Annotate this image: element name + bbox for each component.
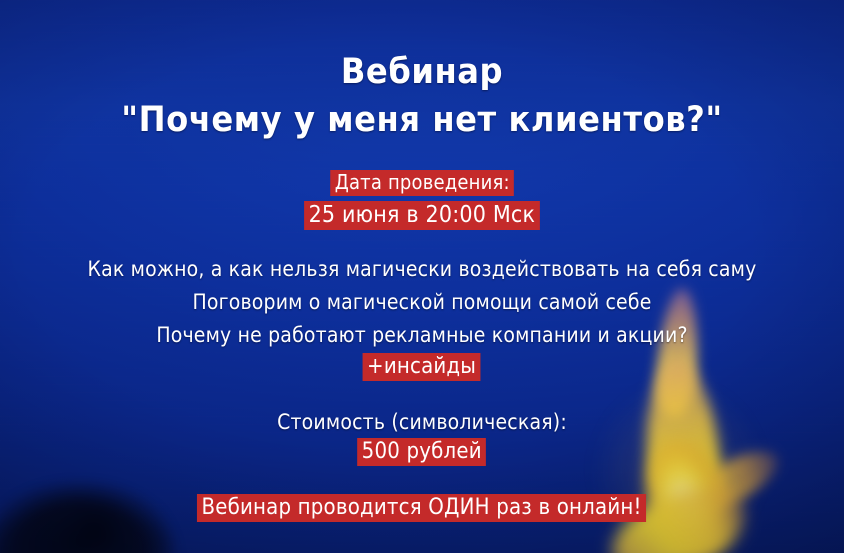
topic-line-2: Поговорим о магической помощи самой себе — [42, 290, 802, 314]
date-value-row: 25 июня в 20:00 Мск — [0, 201, 844, 230]
footer-notice: Вебинар проводится ОДИН раз в онлайн! — [197, 494, 646, 522]
bonus-badge: +инсайды — [363, 353, 481, 381]
price-value-row: 500 рублей — [0, 438, 844, 466]
bonus-row: +инсайды — [0, 353, 844, 381]
price-value: 500 рублей — [357, 438, 486, 466]
price-label: Стоимость (символическая): — [42, 410, 802, 434]
page-title-line-2: "Почему у меня нет клиентов?" — [34, 100, 810, 140]
footer-notice-row: Вебинар проводится ОДИН раз в онлайн! — [0, 494, 844, 522]
webinar-promo-slide: Вебинар "Почему у меня нет клиентов?" Да… — [0, 0, 844, 553]
date-label-row: Дата проведения: — [0, 170, 844, 196]
page-title-line-1: Вебинар — [34, 52, 810, 92]
topic-line-1: Как можно, а как нельзя магически воздей… — [42, 257, 802, 281]
slide-content: Вебинар "Почему у меня нет клиентов?" Да… — [0, 0, 844, 553]
date-label: Дата проведения: — [330, 170, 514, 196]
topic-line-3: Почему не работают рекламные компании и … — [42, 323, 802, 347]
date-value: 25 июня в 20:00 Мск — [304, 201, 540, 230]
